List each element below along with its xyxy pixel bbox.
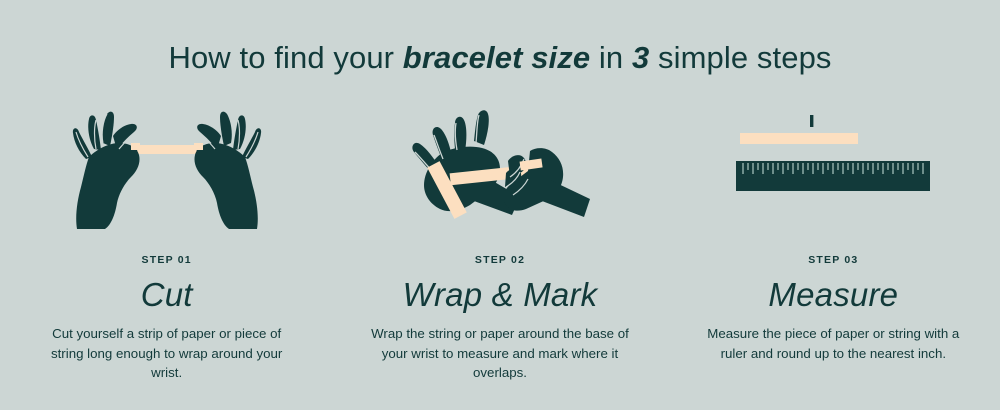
step-3-label: STEP 03: [808, 254, 858, 266]
step-card-3: STEP 03 Measure Measure the piece of pap…: [667, 100, 1000, 383]
step-2-title: Wrap & Mark: [403, 276, 598, 314]
two-hands-holding-string-icon: [67, 105, 267, 230]
step-2-description: Wrap the string or paper around the base…: [370, 324, 630, 383]
title-step-count: 3: [632, 40, 649, 75]
page-title: How to find your bracelet size in 3 simp…: [0, 38, 1000, 78]
step-3-illustration: [667, 100, 1000, 235]
bracelet-size-guide: How to find your bracelet size in 3 simp…: [0, 0, 1000, 410]
step-card-1: STEP 01 Cut Cut yourself a strip of pape…: [0, 100, 333, 383]
title-part-1: How to find your: [168, 40, 402, 75]
step-3-description: Measure the piece of paper or string wit…: [703, 324, 963, 363]
step-1-illustration: [0, 100, 333, 235]
title-emphasis: bracelet size: [403, 40, 590, 75]
step-1-description: Cut yourself a strip of paper or piece o…: [37, 324, 297, 383]
string-mark-tick: [810, 115, 813, 127]
hand-wrapped-with-string-icon: [400, 105, 600, 230]
step-card-2: STEP 02 Wrap & Mark Wrap the string or p…: [333, 100, 666, 383]
title-part-2: in: [590, 40, 632, 75]
measured-string: [740, 133, 858, 144]
step-1-label: STEP 01: [142, 254, 192, 266]
ruler: [736, 161, 930, 191]
step-2-illustration: [333, 100, 666, 235]
ruler-and-marked-string-icon: [733, 105, 933, 230]
step-3-title: Measure: [768, 276, 898, 314]
title-part-3: simple steps: [649, 40, 831, 75]
step-1-title: Cut: [141, 276, 193, 314]
step-2-label: STEP 02: [475, 254, 525, 266]
steps-container: STEP 01 Cut Cut yourself a strip of pape…: [0, 100, 1000, 383]
